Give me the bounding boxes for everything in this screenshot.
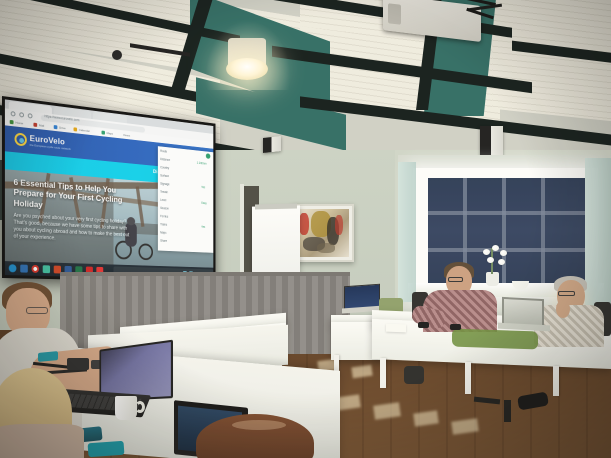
panel-label: Terrain (160, 190, 168, 194)
window-mullion (428, 211, 585, 215)
orchid-flower (487, 257, 494, 263)
table-leg (553, 366, 559, 396)
window-mullion (502, 178, 506, 283)
bookmark-icon[interactable] (33, 123, 37, 127)
curtain-left (398, 162, 416, 302)
panel-label: Signage (160, 182, 169, 186)
back-icon[interactable] (11, 111, 16, 117)
bookmark-label[interactable]: Drive (59, 125, 66, 130)
chrome-icon[interactable] (32, 265, 39, 273)
panel-label: Level (160, 198, 166, 202)
ceiling-panel (492, 29, 611, 124)
hand-on-chin (556, 300, 570, 318)
panel-value: Yes (201, 225, 205, 229)
panel-value: 1 240 km (197, 161, 207, 166)
shoe (404, 366, 424, 384)
orchid-flower (483, 249, 490, 255)
bookmark-label[interactable]: Maps (107, 131, 113, 135)
panel-label: Distance (160, 157, 170, 162)
paper (386, 324, 406, 333)
bookmark-icon[interactable] (102, 131, 105, 135)
eyeglasses (558, 291, 575, 296)
panel-value: Yes (201, 185, 205, 189)
ceiling-conduit-fitting (112, 50, 122, 60)
panel-status-icon (206, 153, 210, 159)
foreground-blonde-shoulder (0, 424, 84, 458)
start-icon[interactable] (9, 264, 17, 272)
panel-label: Share (160, 239, 167, 243)
ceiling-light (226, 58, 268, 80)
viewer-icon[interactable] (43, 265, 50, 273)
eurovelo-logo-icon (15, 132, 27, 146)
projector-lens (388, 3, 401, 25)
panel-label: Surface (160, 174, 169, 178)
orchid-flower (500, 250, 507, 256)
phone-on-table[interactable] (418, 322, 429, 328)
projection-screen: https://www.eurovelo.com Home Mail Drive… (2, 96, 216, 283)
orchid-flower (498, 259, 505, 265)
window-mullion (541, 178, 545, 283)
wall-speaker-left (263, 136, 281, 153)
framed-artwork (297, 209, 349, 257)
panel-label: Ferries (160, 214, 168, 218)
teal-object[interactable] (88, 441, 125, 457)
hair-highlight (232, 420, 286, 430)
eyeglasses (448, 277, 463, 282)
panel-label: Country (160, 165, 169, 169)
panel-label: Route (160, 149, 167, 153)
bookmark-label[interactable]: Home (15, 120, 23, 125)
orchid-pot (486, 272, 499, 286)
coffee-mug[interactable] (115, 396, 137, 420)
bookmark-icon[interactable] (54, 125, 58, 129)
panel-label: Maps (160, 231, 166, 235)
panel-label: Season (160, 206, 169, 210)
curtain-right (585, 158, 611, 306)
table-leg (380, 358, 386, 388)
meeting-room-photo: https://www.eurovelo.com Home Mail Drive… (0, 0, 611, 458)
sidebar-panel[interactable]: Route Distance 1 240 km Country Surface … (158, 146, 213, 253)
chair-leg (504, 400, 511, 422)
bookmark-icon[interactable] (10, 120, 14, 124)
mug-handle (135, 401, 145, 413)
bookmark-label[interactable]: News (124, 133, 130, 137)
eyeglasses (26, 307, 48, 314)
bookmark-label[interactable]: Mail (39, 123, 44, 128)
green-bags-on-table (452, 328, 538, 349)
forward-icon[interactable] (19, 112, 24, 118)
orchid-flower (492, 245, 499, 251)
panel-value: Easy (201, 201, 206, 205)
projector-cables (466, 0, 506, 22)
bicycle-wheel (138, 243, 153, 260)
phone-on-table[interactable] (450, 324, 461, 330)
table-leg (465, 362, 471, 394)
explorer-icon[interactable] (20, 265, 28, 273)
panel-label: Trains (160, 223, 167, 227)
projected-browser-window: https://www.eurovelo.com Home Mail Drive… (5, 99, 213, 280)
bookmark-icon[interactable] (74, 127, 78, 131)
reload-icon[interactable] (28, 113, 33, 118)
